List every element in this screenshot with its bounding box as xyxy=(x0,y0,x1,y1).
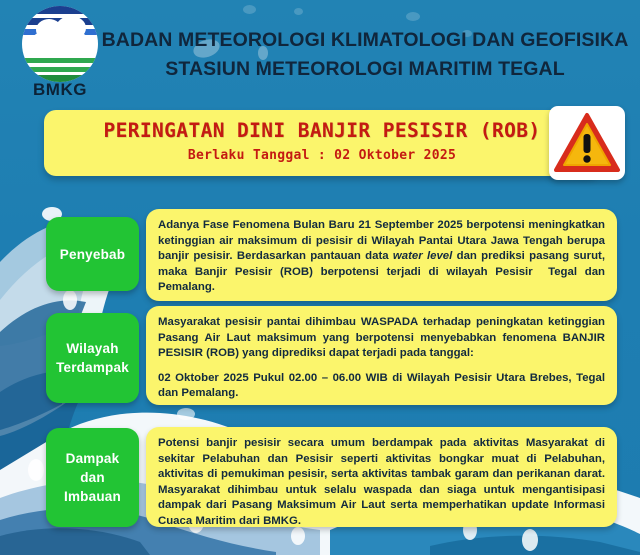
section-paragraph: Adanya Fase Fenomena Bulan Baru 21 Septe… xyxy=(158,218,605,296)
agency-title-line2: STASIUN METEOROLOGI MARITIM TEGAL xyxy=(100,55,630,84)
section-card-wilayah-terdampak: Masyarakat pesisir pantai dihimbau WASPA… xyxy=(146,306,617,405)
section-tag-penyebab: Penyebab xyxy=(46,217,139,291)
poster-header: BMKG BADAN METEOROLOGI KLIMATOLOGI DAN G… xyxy=(0,0,640,104)
section-paragraph: 02 Oktober 2025 Pukul 02.00 – 06.00 WIB … xyxy=(158,371,605,402)
bmkg-logo-label: BMKG xyxy=(14,80,106,100)
warning-banner-title: PERINGATAN DINI BANJIR PESISIR (ROB) xyxy=(44,119,600,142)
bmkg-logo-icon xyxy=(22,6,98,82)
warning-triangle-icon xyxy=(553,110,621,176)
emphasis-water-level: water level xyxy=(393,250,452,262)
agency-title: BADAN METEOROLOGI KLIMATOLOGI DAN GEOFIS… xyxy=(100,26,630,84)
warning-banner-subtitle: Berlaku Tanggal : 02 Oktober 2025 xyxy=(44,148,600,163)
warning-triangle-badge xyxy=(549,106,625,180)
section-tag-label: WilayahTerdampak xyxy=(56,339,129,377)
warning-banner: PERINGATAN DINI BANJIR PESISIR (ROB) Ber… xyxy=(44,110,600,176)
section-card-dampak-imbauan: Potensi banjir pesisir secara umum berda… xyxy=(146,427,617,527)
agency-title-line1: BADAN METEOROLOGI KLIMATOLOGI DAN GEOFIS… xyxy=(100,26,630,55)
section-paragraph: Masyarakat pesisir pantai dihimbau WASPA… xyxy=(158,315,605,362)
section-tag-wilayah-terdampak: WilayahTerdampak xyxy=(46,313,139,403)
section-paragraph: Potensi banjir pesisir secara umum berda… xyxy=(158,436,605,530)
section-card-penyebab: Adanya Fase Fenomena Bulan Baru 21 Septe… xyxy=(146,209,617,301)
poster-canvas: BMKG BADAN METEOROLOGI KLIMATOLOGI DAN G… xyxy=(0,0,640,555)
section-tag-label: Penyebab xyxy=(60,245,125,264)
section-tag-label: DampakdanImbauan xyxy=(64,449,121,506)
bmkg-logo: BMKG xyxy=(14,6,106,101)
section-tag-dampak-imbauan: DampakdanImbauan xyxy=(46,428,139,527)
